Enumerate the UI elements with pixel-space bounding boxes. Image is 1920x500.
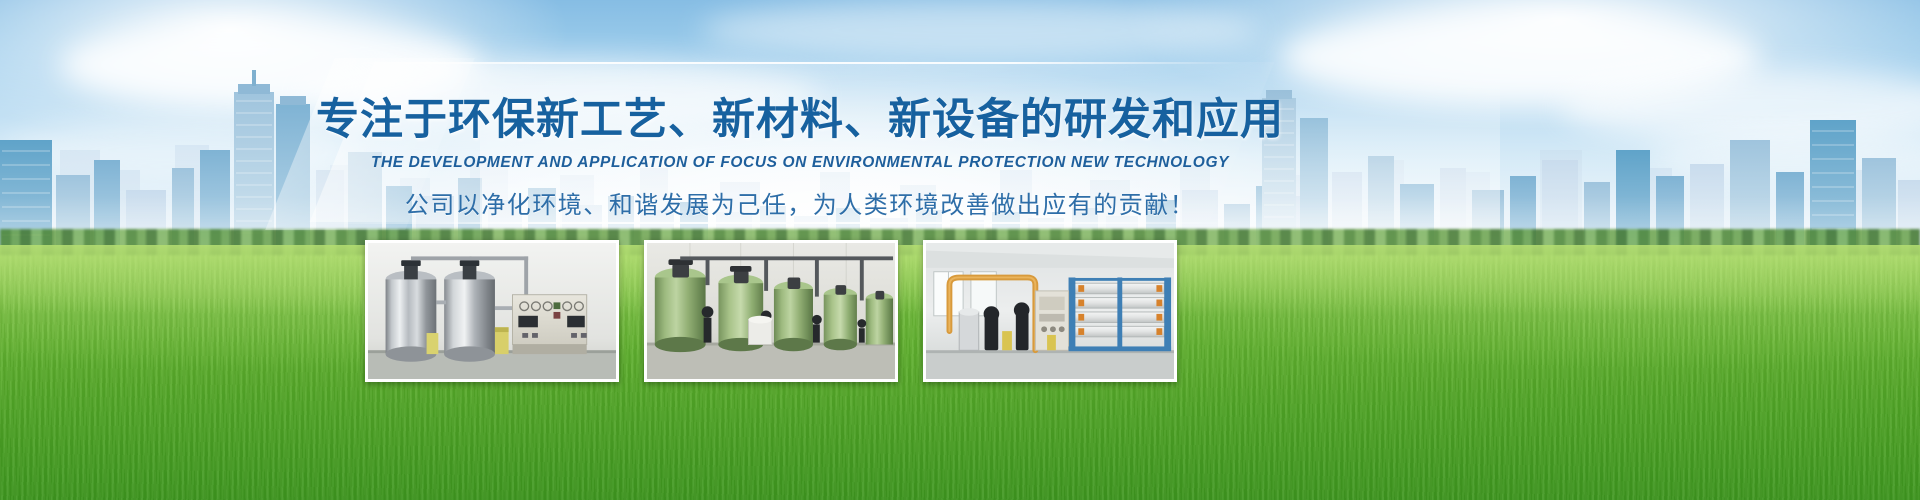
hero-banner: 专注于环保新工艺、新材料、新设备的研发和应用 THE DEVELOPMENT A… — [0, 0, 1920, 500]
banner-headline: 专注于环保新工艺、新材料、新设备的研发和应用 — [0, 96, 1600, 145]
product-photo-1[interactable] — [365, 240, 619, 382]
product-photo-2[interactable] — [644, 240, 898, 382]
product-photo-3[interactable] — [923, 240, 1177, 382]
product-photo-strip — [365, 240, 1177, 382]
banner-text-block: 专注于环保新工艺、新材料、新设备的研发和应用 THE DEVELOPMENT A… — [0, 96, 1600, 220]
banner-subtitle-english: THE DEVELOPMENT AND APPLICATION OF FOCUS… — [0, 154, 1600, 172]
banner-slogan-chinese: 公司以净化环境、和谐发展为己任，为人类环境改善做出应有的贡献！ — [0, 185, 1600, 220]
